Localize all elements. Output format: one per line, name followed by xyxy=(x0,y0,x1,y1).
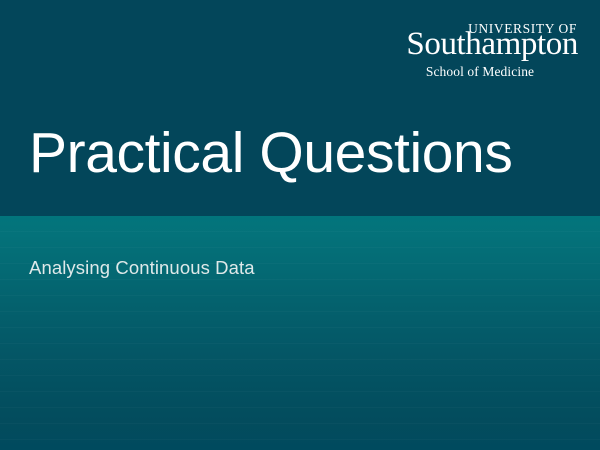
presentation-slide: UNIVERSITY OF Southampton School of Medi… xyxy=(0,0,600,450)
logo-wordmark-row: UNIVERSITY OF Southampton xyxy=(386,20,578,56)
logo-school-of-medicine-text: School of Medicine xyxy=(384,65,576,79)
slide-body-band xyxy=(0,216,600,450)
logo-southampton-wordmark: Southampton xyxy=(406,28,578,61)
university-logo: UNIVERSITY OF Southampton School of Medi… xyxy=(386,20,578,56)
slide-subtitle: Analysing Continuous Data xyxy=(29,257,549,279)
slide-title: Practical Questions xyxy=(29,122,574,184)
